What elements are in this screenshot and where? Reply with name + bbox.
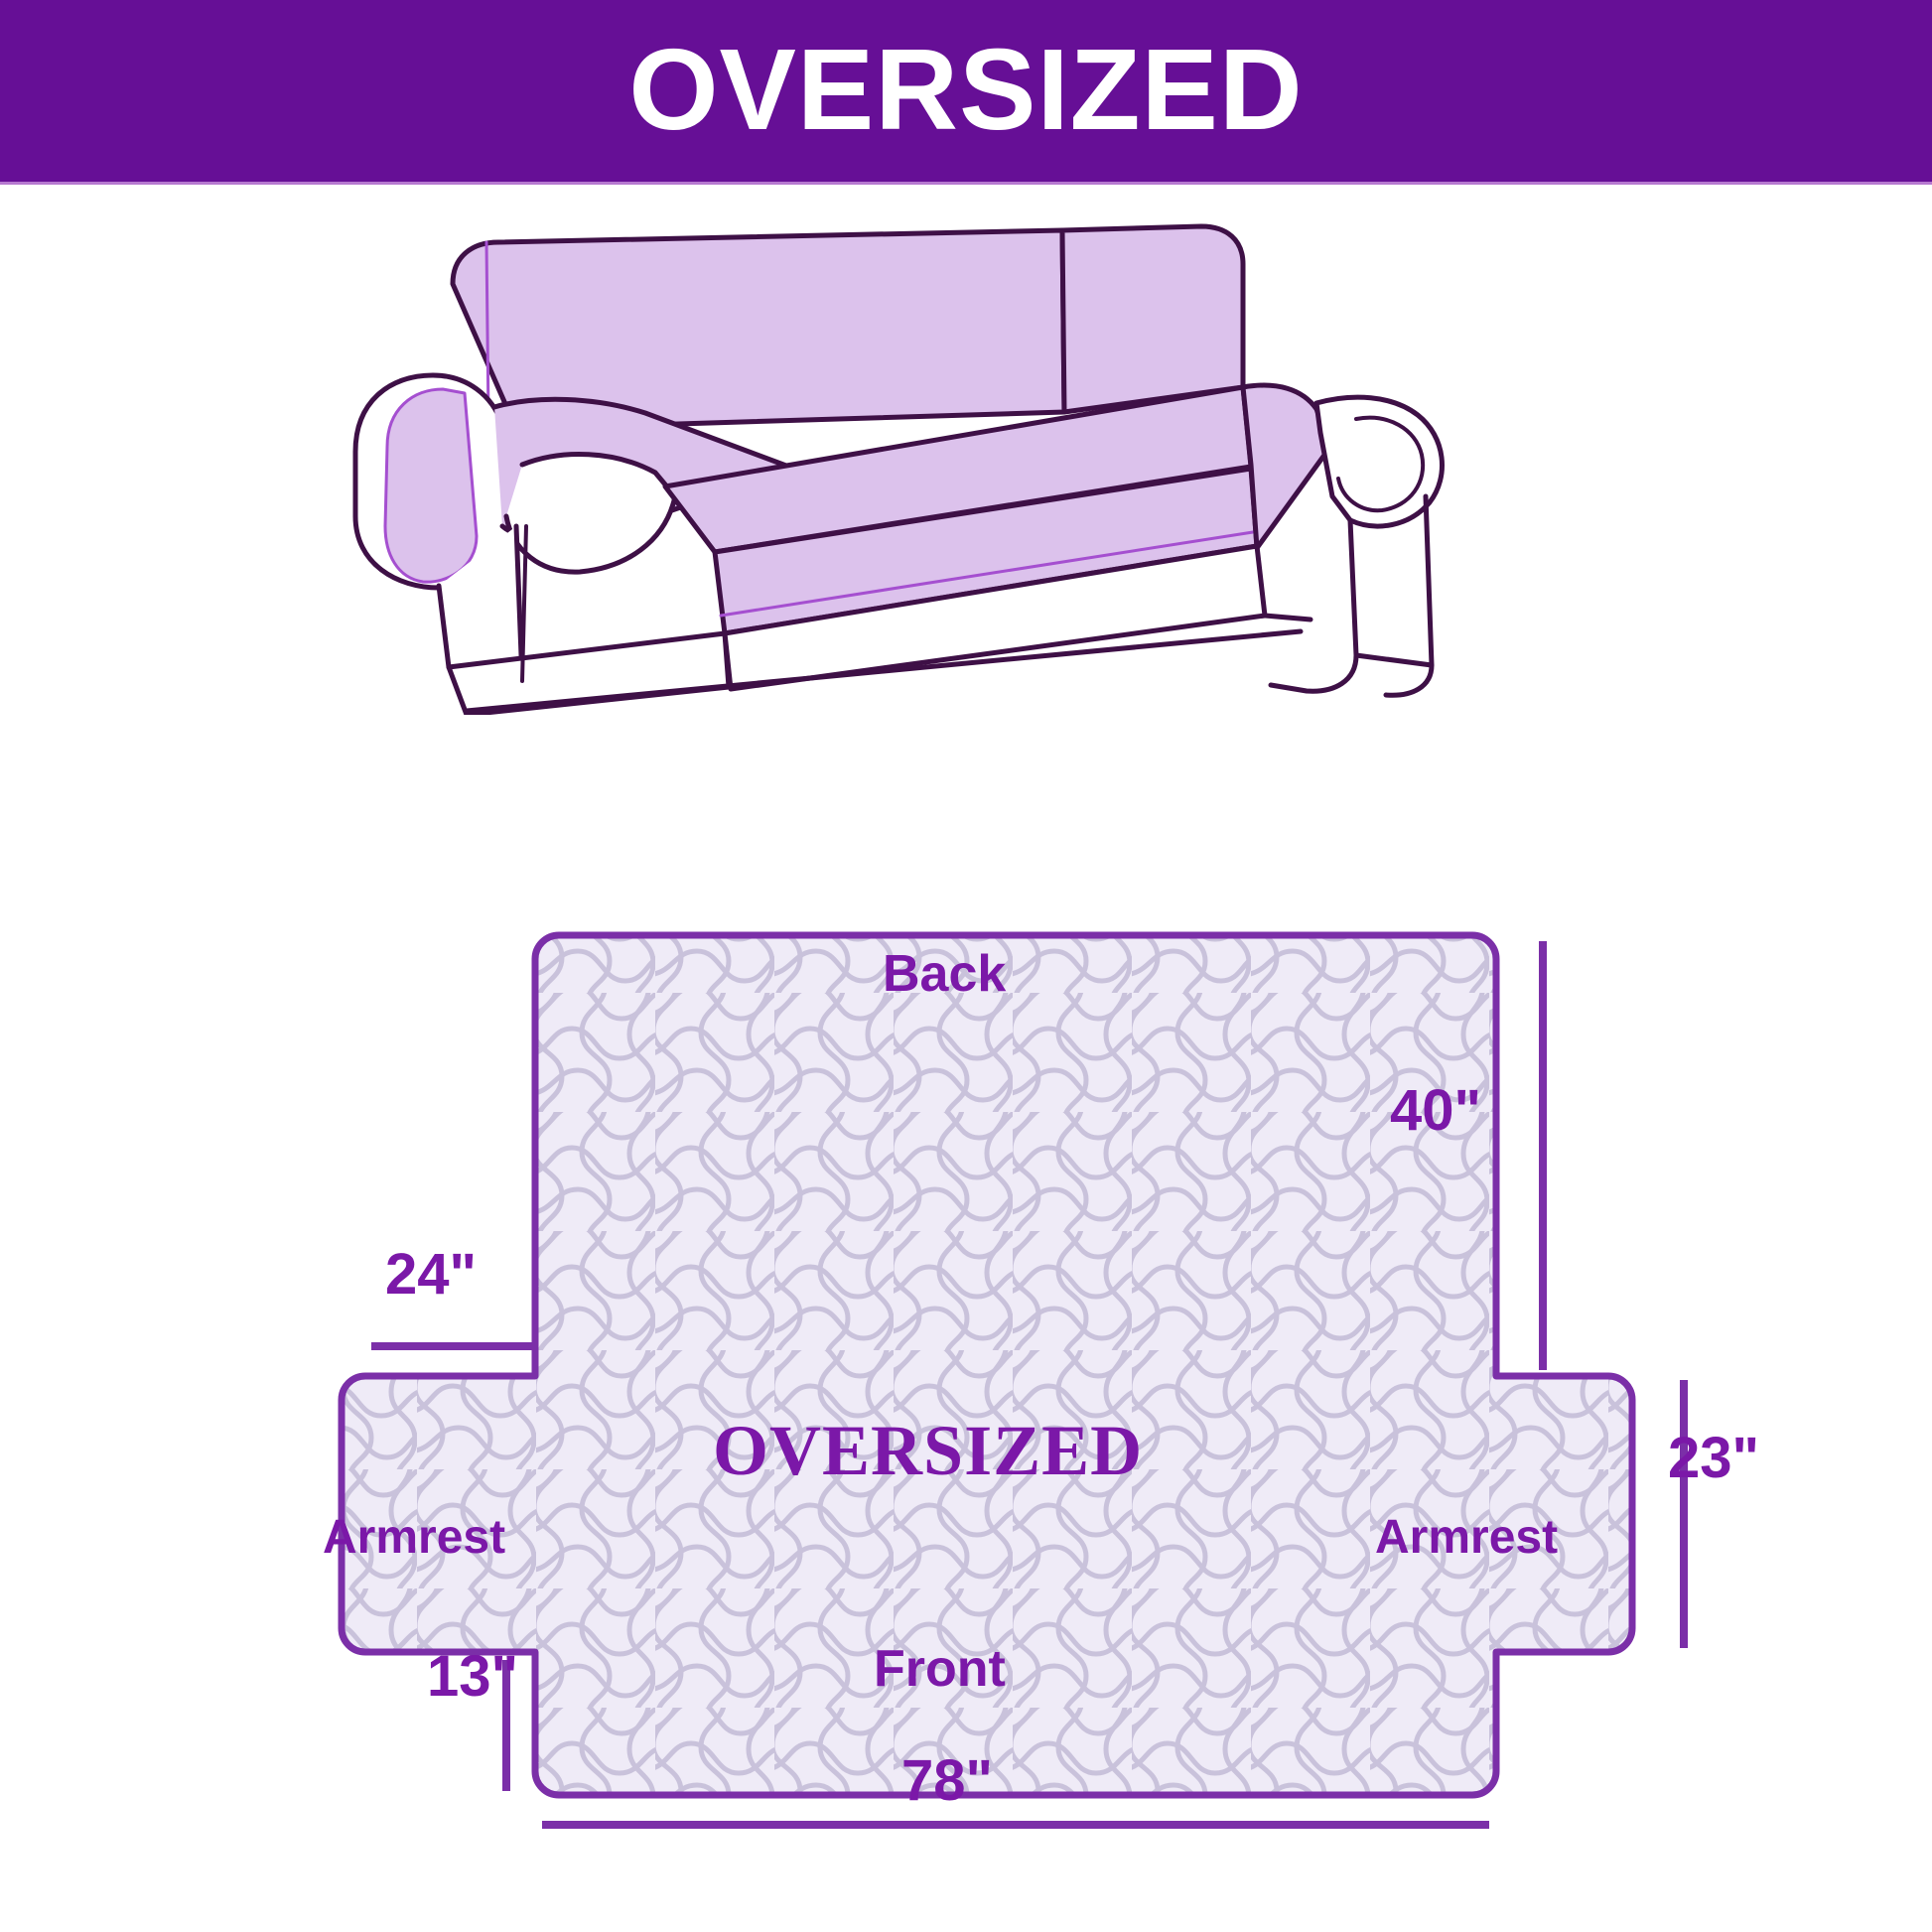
dimension-label-back-height: 40" — [1390, 1082, 1481, 1140]
dimension-label-armrest-depth: 23" — [1668, 1430, 1759, 1487]
panel-label-back: Back — [883, 948, 1006, 1000]
dimension-label-back-inset: 24" — [385, 1246, 477, 1304]
panel-label-front: Front — [874, 1643, 1006, 1695]
header-banner: OVERSIZED — [0, 0, 1932, 182]
dimension-label-front-drop: 13" — [427, 1648, 518, 1706]
sofa-illustration — [328, 199, 1608, 715]
page-title: OVERSIZED — [628, 32, 1303, 147]
panel-label-armrest-left: Armrest — [323, 1514, 505, 1562]
center-label-oversized: OVERSIZED — [713, 1415, 1143, 1486]
dimension-label-total-width: 78" — [901, 1752, 993, 1810]
panel-label-armrest-right: Armrest — [1375, 1514, 1558, 1562]
flat-pattern-diagram — [179, 874, 1807, 1876]
